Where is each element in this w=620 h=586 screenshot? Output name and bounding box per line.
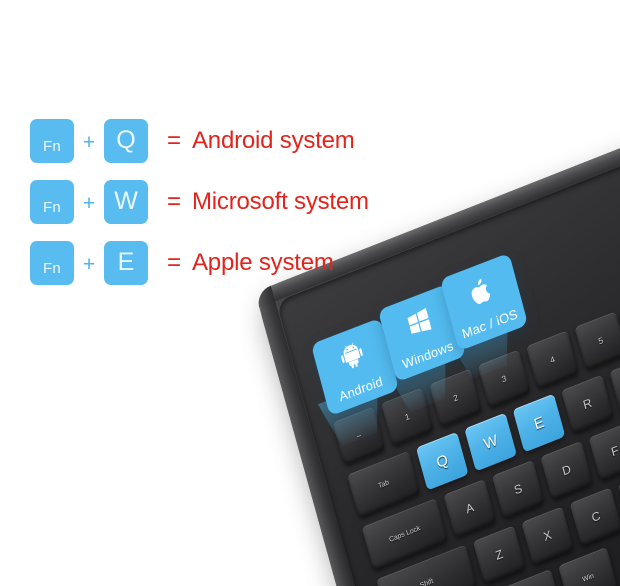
plus-symbol: + (74, 253, 104, 277)
shortcut-result-label: Microsoft system (192, 188, 369, 216)
key-label: S (513, 481, 524, 498)
key-label: D (561, 462, 573, 479)
key-label: 5 (597, 335, 604, 346)
key-label: X (542, 527, 553, 544)
key-label: 2 (452, 392, 459, 403)
key-label: Fn (43, 199, 61, 216)
key-label: Q (116, 126, 135, 155)
key-tile-q[interactable]: Q (104, 119, 148, 163)
key-label: 1 (404, 411, 411, 422)
equals-symbol: = (156, 249, 192, 277)
key-label: Tab (377, 479, 389, 490)
key-label: Q (435, 451, 450, 472)
key-label: 3 (500, 373, 507, 384)
shortcut-row: Fn+E=Apple system (0, 232, 400, 293)
key-label: Win (582, 572, 595, 583)
key-label: W (482, 431, 500, 453)
key-label: Fn (43, 138, 61, 155)
plus-symbol: + (74, 131, 104, 155)
key-label: F (610, 443, 620, 459)
shortcut-result-label: Apple system (192, 249, 334, 277)
shortcut-row: Fn+W=Microsoft system (0, 171, 400, 232)
key-label: Fn (43, 260, 61, 277)
key-label: Z (494, 547, 505, 563)
shortcut-result-label: Android system (192, 127, 355, 155)
key-label: Caps Lock (388, 525, 421, 544)
key-label: E (532, 413, 546, 433)
key-tile-e[interactable]: E (104, 241, 148, 285)
key-tile-fn[interactable]: Fn (30, 180, 74, 224)
promo-graphic: ~1234567890-TabQWERTYUIOPCaps LockASDFGH… (0, 0, 620, 586)
key-label: A (464, 500, 475, 517)
key-label: Shift (419, 577, 434, 586)
key-label: R (581, 396, 593, 413)
equals-symbol: = (156, 127, 192, 155)
equals-symbol: = (156, 188, 192, 216)
key-tile-fn[interactable]: Fn (30, 241, 74, 285)
shortcut-row: Fn+Q=Android system (0, 110, 400, 171)
key-label: C (590, 508, 602, 525)
key-label: E (118, 248, 135, 277)
shortcut-list: Fn+Q=Android systemFn+W=Microsoft system… (0, 110, 400, 293)
key-label: 4 (549, 354, 556, 365)
key-tile-fn[interactable]: Fn (30, 119, 74, 163)
key-tile-w[interactable]: W (104, 180, 148, 224)
key-label: W (114, 187, 138, 216)
plus-symbol: + (74, 192, 104, 216)
